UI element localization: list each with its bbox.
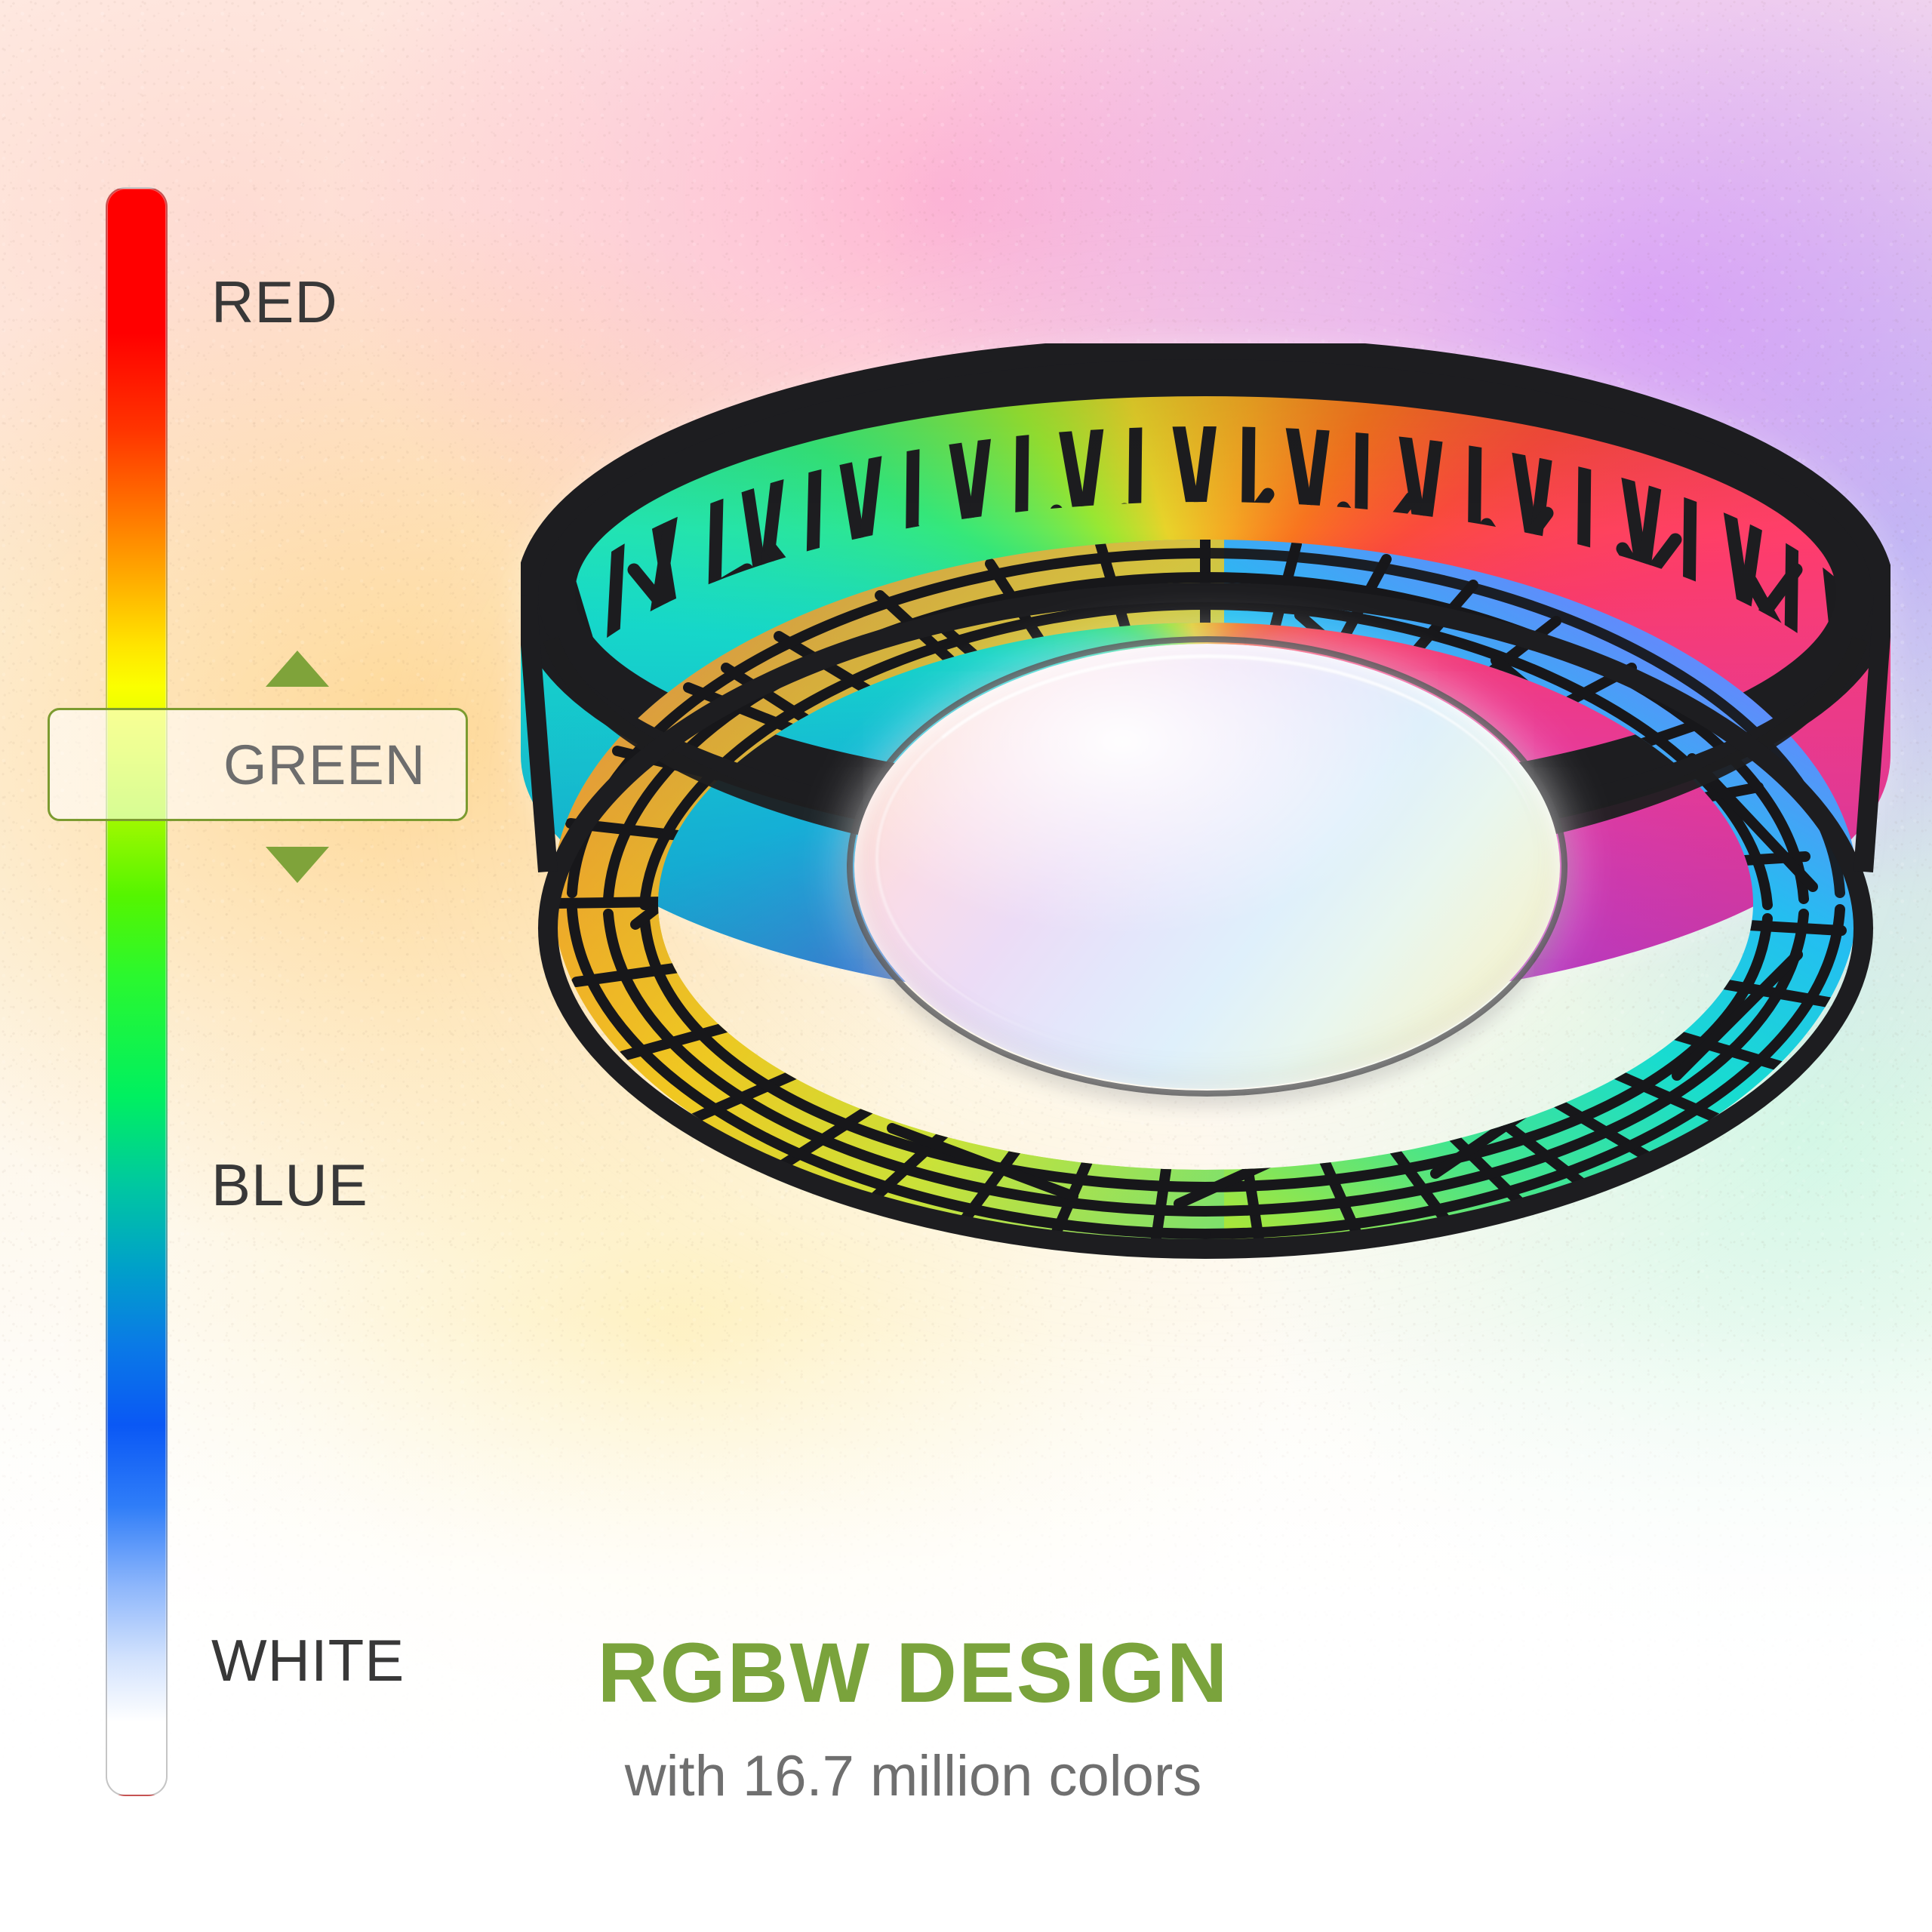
diffuser-gloss-highlight bbox=[875, 654, 1540, 1062]
ceiling-lamp bbox=[521, 343, 1890, 1260]
decrease-value-arrow-icon[interactable] bbox=[266, 847, 329, 883]
product-marketing-image: GREEN RED BLUE WHITE RGBW DESIGN with 16… bbox=[0, 0, 1932, 1932]
slider-label-blue: BLUE bbox=[211, 1151, 368, 1220]
color-gradient-track[interactable] bbox=[106, 187, 168, 1796]
subheadline-color-count: with 16.7 million colors bbox=[0, 1743, 1879, 1809]
increase-value-arrow-icon[interactable] bbox=[266, 651, 329, 687]
slider-label-red: RED bbox=[211, 268, 338, 337]
background-bottom-fade bbox=[0, 1313, 1932, 1932]
rgbw-color-slider[interactable] bbox=[106, 187, 168, 1796]
headline-rgbw-design: RGBW DESIGN bbox=[0, 1624, 1879, 1721]
selected-color-chip-green[interactable]: GREEN bbox=[48, 708, 468, 821]
selected-color-label: GREEN bbox=[223, 733, 426, 797]
